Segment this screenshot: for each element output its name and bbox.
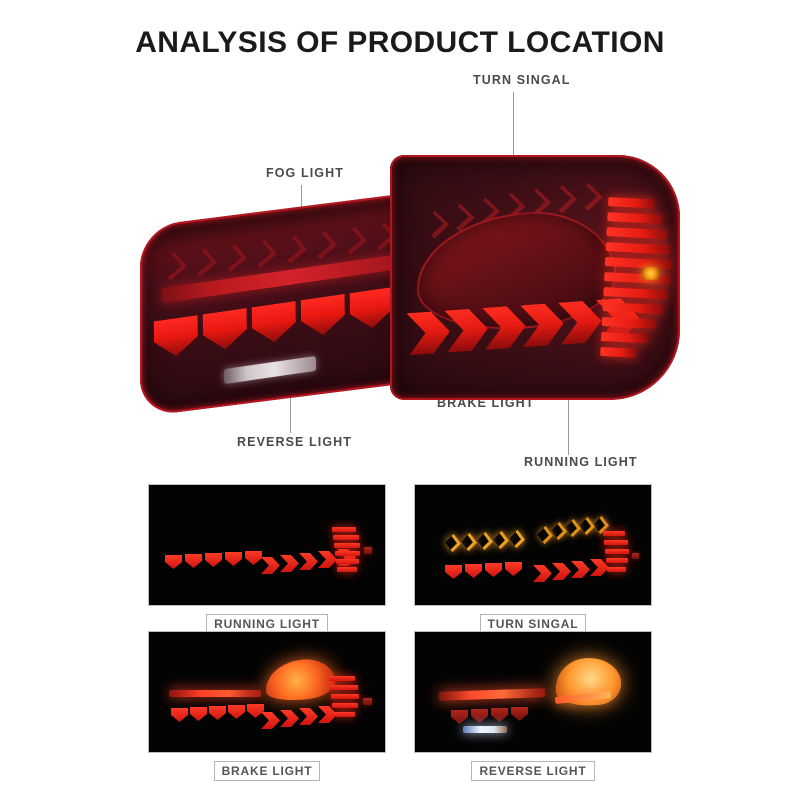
amber-side-marker-icon	[642, 267, 659, 280]
thumbnail-cell-reverse-light[interactable]: REVERSE LIGHT	[414, 631, 652, 781]
thumbnail-image-turn-singal	[414, 484, 652, 606]
thumbnail-cell-running-light[interactable]: RUNNING LIGHT	[148, 484, 386, 634]
thumbnail-image-reverse-light	[414, 631, 652, 753]
thumbnail-cell-brake-light[interactable]: BRAKE LIGHT	[148, 631, 386, 781]
thumbnail-caption-brake-light: BRAKE LIGHT	[214, 761, 321, 781]
callout-label-reverse-light: REVERSE LIGHT	[237, 435, 352, 449]
callout-label-running-light: RUNNING LIGHT	[524, 455, 638, 469]
hero-product-figure: TURN SINGAL FOG LIGHT BRAKE LIGHT RUNNIN…	[0, 60, 800, 475]
tail-light-inner-section	[140, 193, 408, 417]
mode-thumbnail-grid: RUNNING LIGHT	[0, 478, 800, 798]
tail-light-assembly	[140, 155, 680, 415]
thumbnail-image-running-light	[148, 484, 386, 606]
page-title: ANALYSIS OF PRODUCT LOCATION	[0, 26, 800, 60]
thumbnail-cell-turn-singal[interactable]: TURN SINGAL	[414, 484, 652, 634]
callout-label-turn-singal: TURN SINGAL	[473, 73, 571, 87]
reverse-light-white-bar	[463, 726, 507, 733]
tail-light-outer-section	[390, 155, 680, 400]
running-light-bars	[600, 197, 680, 369]
thumbnail-caption-reverse-light: REVERSE LIGHT	[471, 761, 594, 781]
thumbnail-image-brake-light	[148, 631, 386, 753]
reverse-light-bar	[224, 356, 316, 384]
